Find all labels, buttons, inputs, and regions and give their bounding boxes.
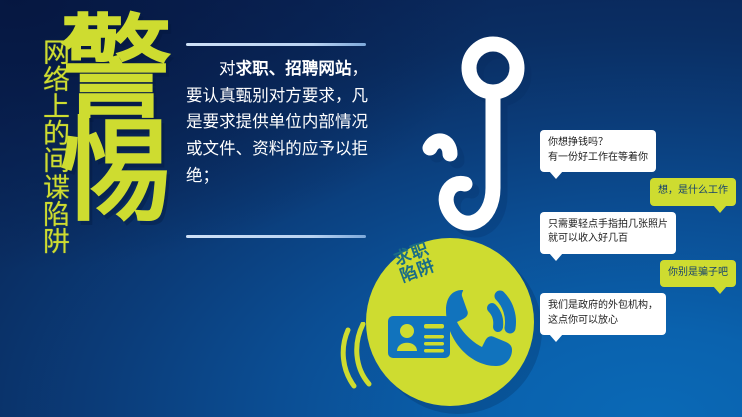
badge-icon-group [366,238,534,406]
divider-bottom [186,235,366,238]
chat-thread: 你想挣钱吗？ 有一份好工作在等着你 想，是什么工作 只需要轻点手指拍几张照片 就… [540,130,736,341]
chat-bubble-incoming[interactable]: 只需要轻点手指拍几张照片 就可以收入好几百 [540,212,676,254]
chat-bubble-outgoing[interactable]: 想，是什么工作 [650,178,736,206]
chat-row: 只需要轻点手指拍几张照片 就可以收入好几百 [540,212,736,254]
phone-call-icon [446,290,512,366]
chat-bubble-incoming[interactable]: 你想挣钱吗？ 有一份好工作在等着你 [540,130,656,172]
body-paragraph: 对求职、招聘网站，要认真甄别对方要求，凡是要求提供单位内部情况或文件、资料的应予… [186,56,368,190]
headline-char-2: 惕 [60,121,190,224]
chat-bubble-outgoing[interactable]: 你别是骗子吧 [660,260,736,288]
paragraph-prefix: 对 [219,59,236,78]
vertical-subtitle: 网络上的间谍陷阱 [22,38,68,254]
paragraph-emphasis: 求职、招聘网站 [236,59,352,78]
chat-row: 你别是骗子吧 [540,260,736,288]
poster-canvas: 网络上的间谍陷阱 警 惕 对求职、招聘网站，要认真甄别对方要求，凡是要求提供单位… [0,0,742,417]
id-card-icon [388,316,450,358]
chat-row: 我们是政府的外包机构， 这点你可以放心 [540,293,736,335]
chat-row: 你想挣钱吗？ 有一份好工作在等着你 [540,130,736,172]
page-title: 警 惕 [60,18,190,224]
divider-top [186,43,366,46]
chat-row: 想，是什么工作 [540,178,736,206]
headline-char-1: 警 [60,18,190,121]
chat-bubble-incoming[interactable]: 我们是政府的外包机构， 这点你可以放心 [540,293,666,335]
